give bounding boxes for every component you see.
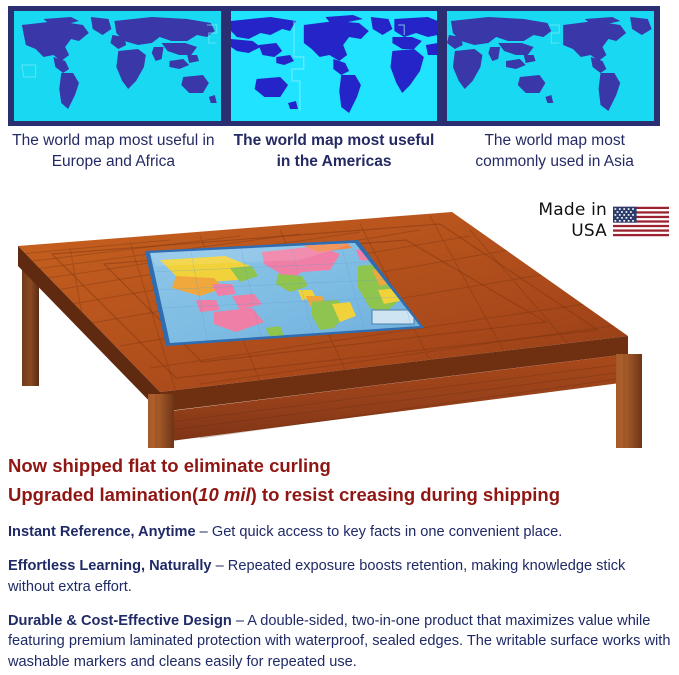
table-leg-front-left	[148, 394, 174, 448]
usa-line: USA	[538, 221, 607, 242]
caption-asia: The world map most commonly used in Asia	[449, 130, 660, 173]
bullet-1-dash: –	[196, 524, 212, 540]
asia-world-map-icon	[447, 11, 654, 121]
made-in-line: Made in	[538, 200, 607, 221]
bullet-2-dash: –	[212, 558, 228, 574]
bullet-1-body: Get quick access to key facts in one con…	[212, 524, 562, 540]
headline-upgraded-lamination: Upgraded lamination(10 mil) to resist cr…	[8, 481, 673, 510]
table-leg-front-right	[616, 354, 642, 448]
bullet-3-title: Durable & Cost-Effective Design	[8, 613, 232, 629]
headline-2-italic: 10 mil	[198, 484, 250, 505]
headline-shipped-flat: Now shipped flat to eliminate curling	[8, 452, 673, 481]
map-caption-row: The world map most useful in Europe and …	[8, 130, 660, 173]
map-panel-americas	[231, 11, 438, 121]
made-in-usa-badge: Made in USA	[538, 200, 669, 243]
headline-1-text: Now shipped flat to eliminate curling	[8, 455, 331, 476]
made-in-usa-text: Made in USA	[538, 200, 607, 243]
bullet-instant-reference: Instant Reference, Anytime – Get quick a…	[8, 522, 673, 543]
map-panel-asia	[447, 11, 654, 121]
caption-americas: The world map most useful in the America…	[229, 130, 440, 173]
table-leg-back-left	[22, 268, 39, 386]
world-map-comparison-banner	[8, 6, 660, 126]
caption-europe-africa: The world map most useful in Europe and …	[8, 130, 219, 173]
map-panel-europe-africa	[14, 11, 221, 121]
usa-flag-icon	[613, 205, 669, 238]
bullet-3-dash: –	[232, 613, 247, 629]
bullet-1-title: Instant Reference, Anytime	[8, 524, 196, 540]
bullet-effortless-learning: Effortless Learning, Naturally – Repeate…	[8, 556, 673, 597]
marketing-copy-block: Now shipped flat to eliminate curling Up…	[8, 452, 673, 673]
europe-africa-world-map-icon	[14, 11, 221, 121]
headline-2-after: ) to resist creasing during shipping	[251, 484, 560, 505]
americas-world-map-icon	[231, 11, 438, 121]
bullet-durable-cost-effective: Durable & Cost-Effective Design – A doub…	[8, 611, 673, 673]
headline-2-before: Upgraded lamination(	[8, 484, 198, 505]
bullet-2-title: Effortless Learning, Naturally	[8, 558, 212, 574]
